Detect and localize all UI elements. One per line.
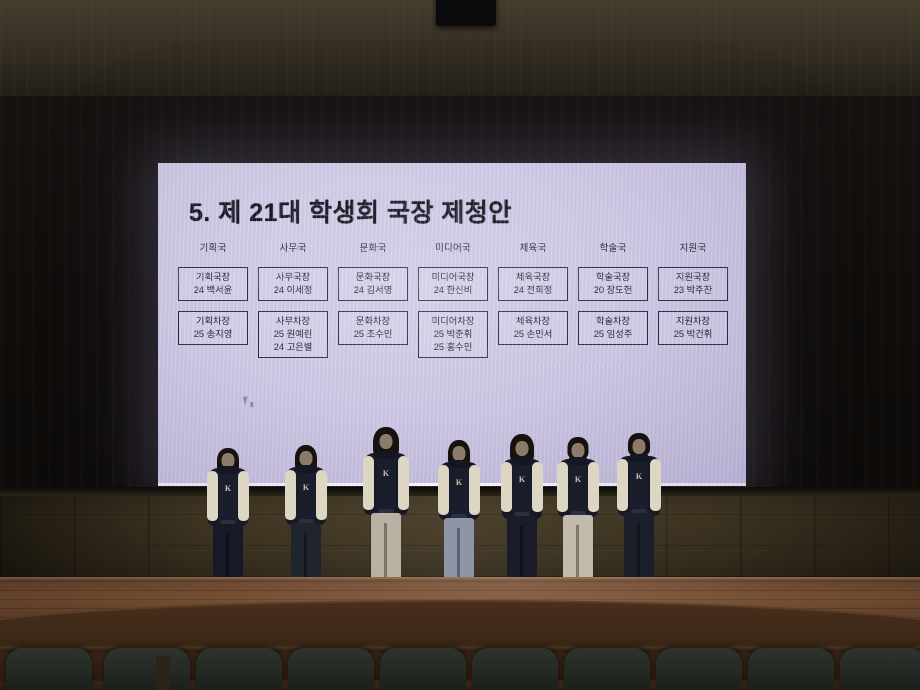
projection-screen: 5. 제 21대 학생회 국장 제청안 기획국 사무국 문화국 미디어국 [158, 163, 746, 486]
chief-cell-5: 학술국장 20 장도헌 [573, 267, 653, 301]
trousers [507, 516, 537, 586]
member-name: 25 원예린 [274, 329, 313, 339]
role-label: 기획차장 [196, 316, 230, 326]
jacket-sleeve-right [398, 456, 409, 510]
deputy-cell-5: 학술차장 25 임성주 [573, 311, 653, 345]
column-header-label: 기획국 [200, 240, 227, 254]
jacket-sleeve-right [238, 471, 249, 521]
role-label: 학술국장 [596, 272, 630, 282]
member-name: 24 이세정 [274, 285, 313, 295]
ceiling-fixture [436, 0, 496, 26]
audience-seat [104, 648, 190, 690]
member-name: 24 전희정 [514, 285, 553, 295]
jacket-sleeve-left [363, 456, 374, 510]
jacket-collar [449, 460, 469, 468]
member-name: 23 박주찬 [674, 285, 713, 295]
audience-seat [288, 648, 374, 690]
member-name: 24 한신비 [434, 285, 473, 295]
chief-box: 미디어국장 24 한신비 [418, 267, 488, 301]
column-group-6: 지원국 [653, 240, 733, 257]
column-group-4: 체육국 [493, 240, 573, 257]
role-label: 기획국장 [196, 272, 230, 282]
role-label: 지원국장 [676, 272, 710, 282]
column-header-label: 체육국 [520, 240, 547, 254]
role-label: 사무국장 [276, 272, 310, 282]
jacket-letter-k: K [383, 469, 389, 478]
chief-cell-6: 지원국장 23 박주찬 [653, 267, 733, 301]
jacket-body [569, 459, 587, 515]
deputy-cell-2: 문화차장 25 조수민 [333, 311, 413, 345]
varsity-jacket: K [502, 459, 542, 519]
column-group-2: 문화국 [333, 240, 413, 257]
face [453, 446, 466, 461]
trousers [444, 518, 474, 586]
member-name: 25 박준휘 [434, 329, 473, 339]
auditorium-room: 5. 제 21대 학생회 국장 제청안 기획국 사무국 문화국 미디어국 [0, 0, 920, 690]
audience-seat [6, 648, 92, 690]
column-header-label: 문화국 [360, 240, 387, 254]
deputy-cell-6: 지원차장 25 박건휘 [653, 311, 733, 345]
member-name: 24 김서영 [354, 285, 393, 295]
jacket-letter-k: K [519, 475, 525, 484]
chief-cell-2: 문화국장 24 김서영 [333, 267, 413, 301]
jacket-letter-k: K [636, 472, 642, 481]
member-name: 20 장도헌 [594, 285, 633, 295]
member-name: 24 백서윤 [194, 285, 233, 295]
jacket-collar [296, 465, 316, 473]
jacket-collar [376, 451, 396, 459]
member-name: 25 송지영 [194, 329, 233, 339]
member-name: 24 고은별 [274, 342, 313, 352]
deputy-row: 기획차장 25 송지영 사무차장 25 원예린 24 고은별 문화차 [173, 311, 733, 358]
deputy-box: 문화차장 25 조수민 [338, 311, 408, 345]
deputy-box: 체육차장 25 손민서 [498, 311, 568, 345]
face [300, 451, 313, 466]
jacket-body [630, 456, 648, 512]
jacket-body [513, 459, 531, 515]
role-label: 문화차장 [356, 316, 390, 326]
jacket-sleeve-right [588, 462, 599, 512]
jacket-letter-k: K [303, 483, 309, 492]
role-label: 체육국장 [516, 272, 550, 282]
jacket-body [450, 462, 468, 518]
face [633, 439, 646, 454]
trousers [624, 513, 654, 583]
audience-seating [0, 646, 920, 690]
deputy-box: 지원차장 25 박건휘 [658, 311, 728, 345]
deputy-box: 미디어차장 25 박준휘 25 홍수민 [418, 311, 488, 358]
column-header-label: 미디어국 [435, 240, 471, 254]
audience-seat [840, 648, 920, 690]
jacket-sleeve-left [617, 459, 628, 511]
role-label: 문화국장 [356, 272, 390, 282]
jacket-body [377, 453, 396, 513]
chief-box: 학술국장 20 장도헌 [578, 267, 648, 301]
column-group-3: 미디어국 [413, 240, 493, 257]
jacket-letter-k: K [225, 484, 231, 493]
deputy-box: 학술차장 25 임성주 [578, 311, 648, 345]
varsity-jacket: K [439, 462, 479, 520]
chief-cell-0: 기획국장 24 백서윤 [173, 267, 253, 301]
deputy-box: 사무차장 25 원예린 24 고은별 [258, 311, 328, 358]
deputy-cell-0: 기획차장 25 송지영 [173, 311, 253, 345]
trousers [371, 513, 401, 585]
org-chart-table: 기획국 사무국 문화국 미디어국 체육국 학술국 [173, 240, 733, 358]
varsity-jacket: K [558, 459, 598, 517]
jacket-sleeve-right [316, 470, 327, 520]
deputy-cell-3: 미디어차장 25 박준휘 25 홍수민 [413, 311, 493, 358]
member-name: 25 손민서 [514, 329, 553, 339]
member-name: 25 임성주 [594, 329, 633, 339]
role-label: 체육차장 [516, 316, 550, 326]
jacket-body [297, 467, 315, 523]
column-header-row: 기획국 사무국 문화국 미디어국 체육국 학술국 [173, 240, 733, 257]
deputy-cell-1: 사무차장 25 원예린 24 고은별 [253, 311, 333, 358]
column-header-label: 학술국 [600, 240, 627, 254]
column-header-label: 사무국 [280, 240, 307, 254]
jacket-collar [512, 457, 532, 465]
member-name: 25 박건휘 [674, 329, 713, 339]
varsity-jacket: K [286, 467, 326, 525]
chief-box: 기획국장 24 백서윤 [178, 267, 248, 301]
jacket-letter-k: K [575, 475, 581, 484]
jacket-collar [568, 457, 588, 465]
face [516, 441, 529, 456]
face [572, 443, 585, 458]
chief-box: 문화국장 24 김서영 [338, 267, 408, 301]
trousers [563, 515, 593, 583]
mouse-cursor-icon [243, 395, 253, 406]
jacket-sleeve-left [557, 462, 568, 512]
role-label: 사무차장 [276, 316, 310, 326]
chief-box: 지원국장 23 박주찬 [658, 267, 728, 301]
chief-row: 기획국장 24 백서윤 사무국장 24 이세정 문화국장 24 김서 [173, 267, 733, 301]
jacket-sleeve-left [207, 471, 218, 521]
column-header-label: 지원국 [680, 240, 707, 254]
chief-box: 체육국장 24 전희정 [498, 267, 568, 301]
role-label: 지원차장 [676, 316, 710, 326]
chief-box: 사무국장 24 이세정 [258, 267, 328, 301]
audience-seat [564, 648, 650, 690]
varsity-jacket: K [618, 456, 660, 516]
chief-cell-3: 미디어국장 24 한신비 [413, 267, 493, 301]
presentation-slide: 5. 제 21대 학생회 국장 제청안 기획국 사무국 문화국 미디어국 [158, 163, 746, 486]
column-group-1: 사무국 [253, 240, 333, 257]
chief-cell-4: 체육국장 24 전희정 [493, 267, 573, 301]
member-name: 25 조수민 [354, 329, 393, 339]
column-group-5: 학술국 [573, 240, 653, 257]
seat-divider [156, 656, 170, 690]
jacket-body [219, 468, 237, 524]
varsity-jacket: K [208, 468, 248, 526]
slide-title: 5. 제 21대 학생회 국장 제청안 [189, 193, 512, 229]
jacket-sleeve-left [285, 470, 296, 520]
audience-seat [748, 648, 834, 690]
audience-seat [472, 648, 558, 690]
jacket-sleeve-right [532, 462, 543, 512]
jacket-letter-k: K [456, 478, 462, 487]
role-label: 학술차장 [596, 316, 630, 326]
jacket-sleeve-right [469, 465, 480, 515]
role-label: 미디어차장 [432, 316, 475, 326]
column-group-0: 기획국 [173, 240, 253, 257]
audience-seat [380, 648, 466, 690]
face [380, 434, 393, 449]
member-name: 25 홍수민 [434, 342, 473, 352]
audience-seat [196, 648, 282, 690]
role-label: 미디어국장 [432, 272, 475, 282]
deputy-cell-4: 체육차장 25 손민서 [493, 311, 573, 345]
varsity-jacket: K [364, 453, 408, 515]
deputy-box: 기획차장 25 송지영 [178, 311, 248, 345]
chief-cell-1: 사무국장 24 이세정 [253, 267, 333, 301]
jacket-collar [218, 466, 238, 474]
jacket-sleeve-right [650, 459, 661, 511]
jacket-collar [629, 454, 649, 462]
jacket-sleeve-left [438, 465, 449, 515]
jacket-sleeve-left [501, 462, 512, 512]
audience-seat [656, 648, 742, 690]
